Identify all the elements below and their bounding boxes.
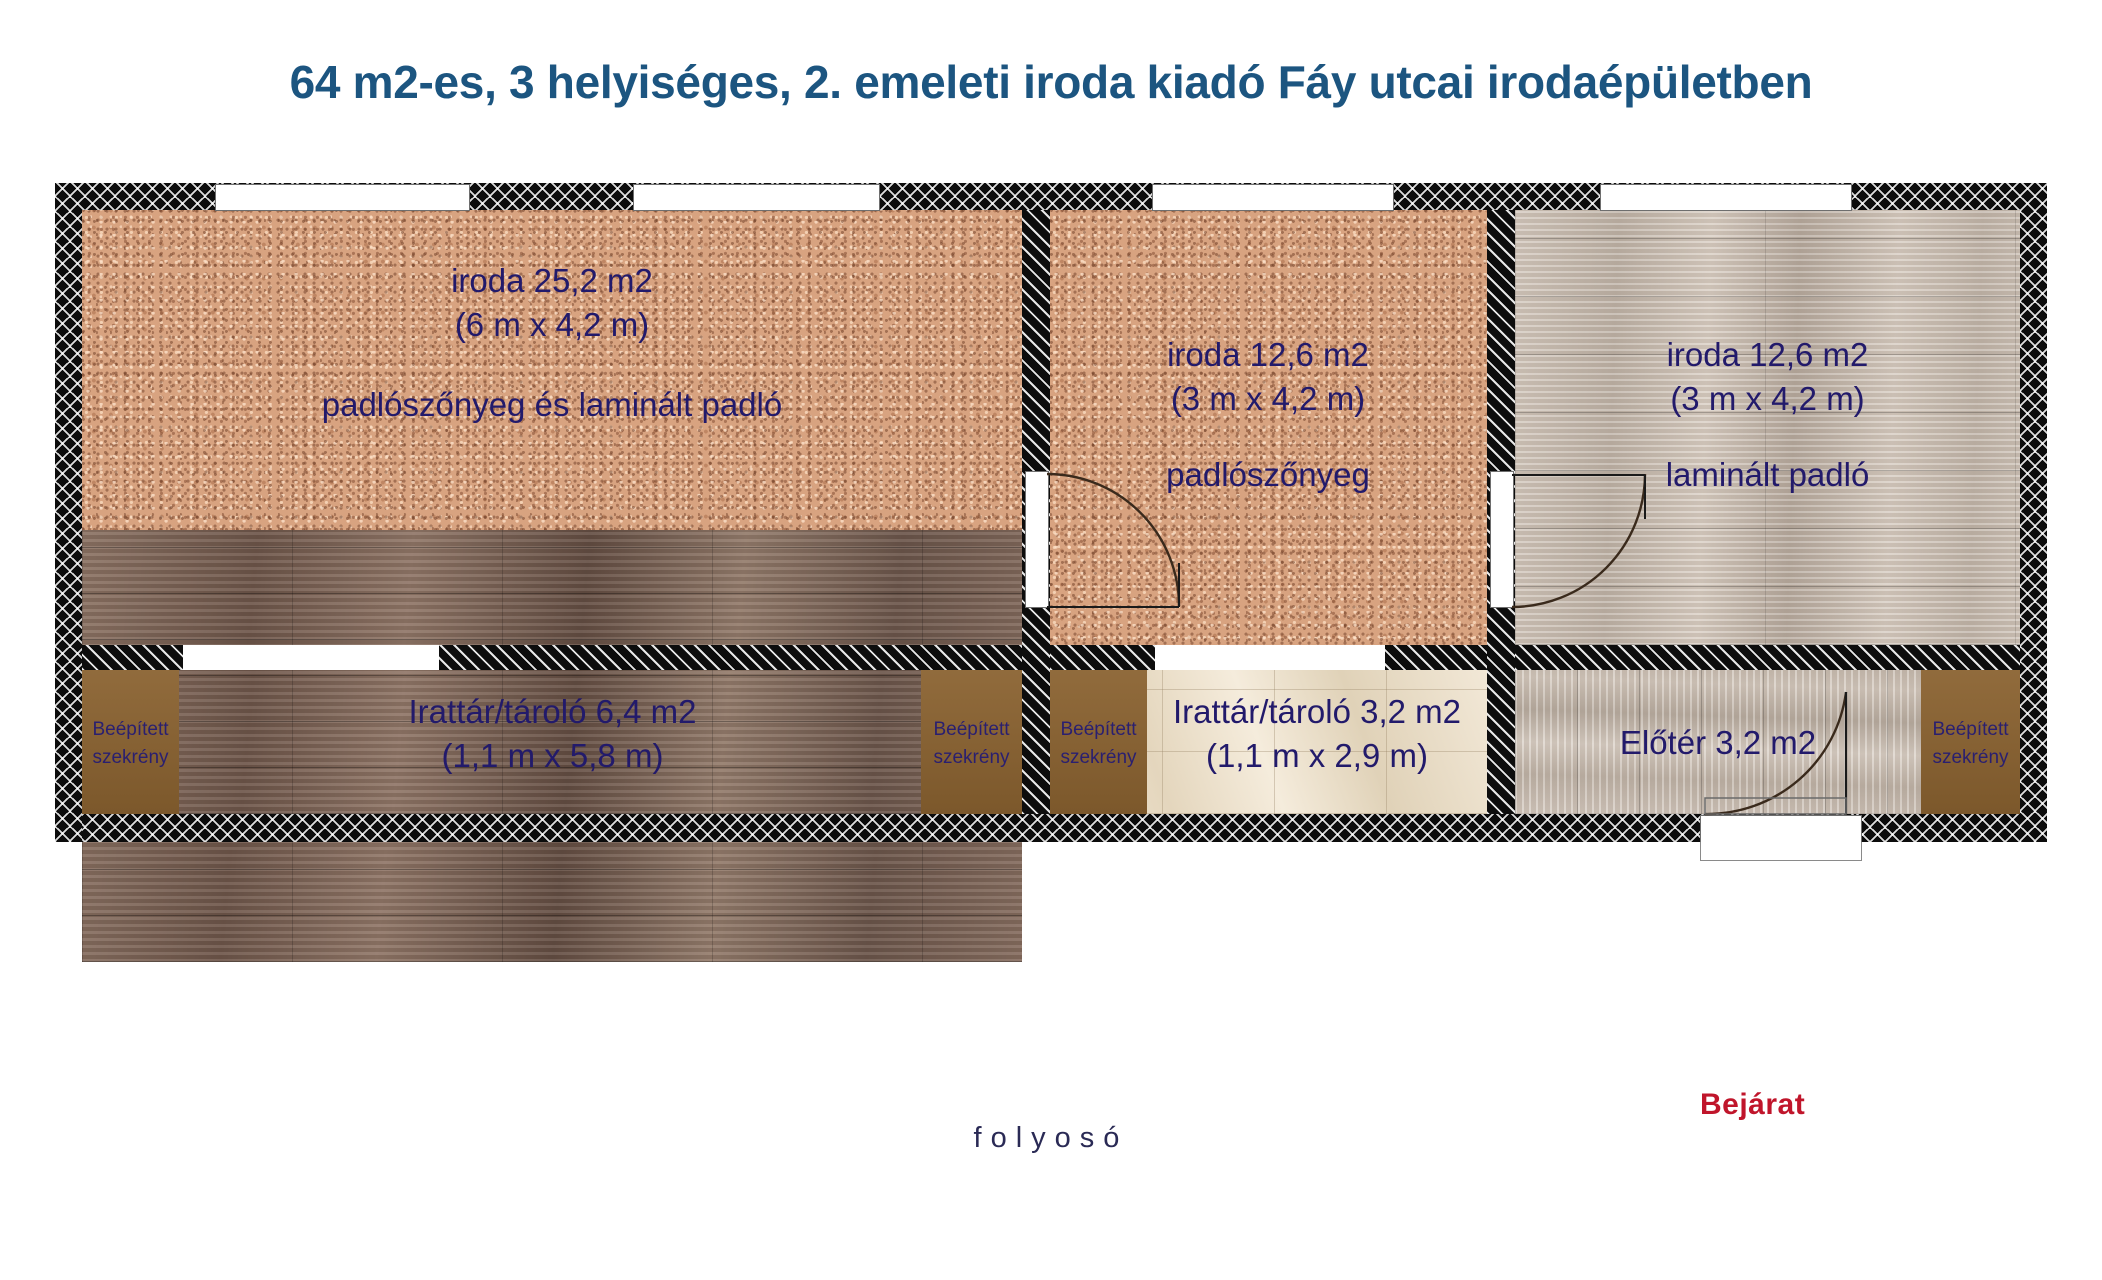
window-2 xyxy=(633,184,880,211)
storage-large-floor xyxy=(82,670,1022,814)
door-leaf-office-mid xyxy=(1025,471,1049,608)
entrance-label: Bejárat xyxy=(1700,1088,1805,1122)
floor-plan: iroda 25,2 m2 (6 m x 4,2 m) padlószőnyeg… xyxy=(55,183,2047,1063)
wardrobe-1-line1: Beépített xyxy=(82,716,179,744)
office-large-carpet-floor xyxy=(82,208,1022,530)
door-leaf-office-right xyxy=(1490,471,1514,608)
interior-wall-e xyxy=(1515,645,2020,670)
door-opening-storage-large xyxy=(183,645,439,670)
wardrobe-2-label: Beépített szekrény xyxy=(921,716,1022,771)
wardrobe-1-label: Beépített szekrény xyxy=(82,716,179,771)
exterior-wall-right xyxy=(2020,183,2047,842)
wardrobe-3-label: Beépített szekrény xyxy=(1050,716,1147,771)
window-3 xyxy=(1152,184,1394,211)
exterior-wall-left xyxy=(55,183,82,842)
door-swing-office-right xyxy=(1512,471,1662,611)
entrance-door-threshold xyxy=(1700,842,1862,861)
wardrobe-3-line1: Beépített xyxy=(1050,716,1147,744)
page-title: 64 m2-es, 3 helyiséges, 2. emeleti iroda… xyxy=(0,55,2102,109)
window-1 xyxy=(215,184,470,211)
door-swing-entrance xyxy=(1700,670,1870,816)
wardrobe-2-line2: szekrény xyxy=(921,744,1022,772)
wardrobe-1-line2: szekrény xyxy=(82,744,179,772)
door-swing-office-mid xyxy=(1047,471,1192,611)
wardrobe-4-label: Beépített szekrény xyxy=(1921,716,2020,771)
window-4 xyxy=(1600,184,1852,211)
wardrobe-2-line1: Beépített xyxy=(921,716,1022,744)
wardrobe-3-line2: szekrény xyxy=(1050,744,1147,772)
entrance-door-opening xyxy=(1700,815,1862,844)
wardrobe-4-line1: Beépített xyxy=(1921,716,2020,744)
door-opening-storage-small xyxy=(1155,645,1385,670)
corridor-label: folyosó xyxy=(0,1122,2102,1155)
wardrobe-4-line2: szekrény xyxy=(1921,744,2020,772)
